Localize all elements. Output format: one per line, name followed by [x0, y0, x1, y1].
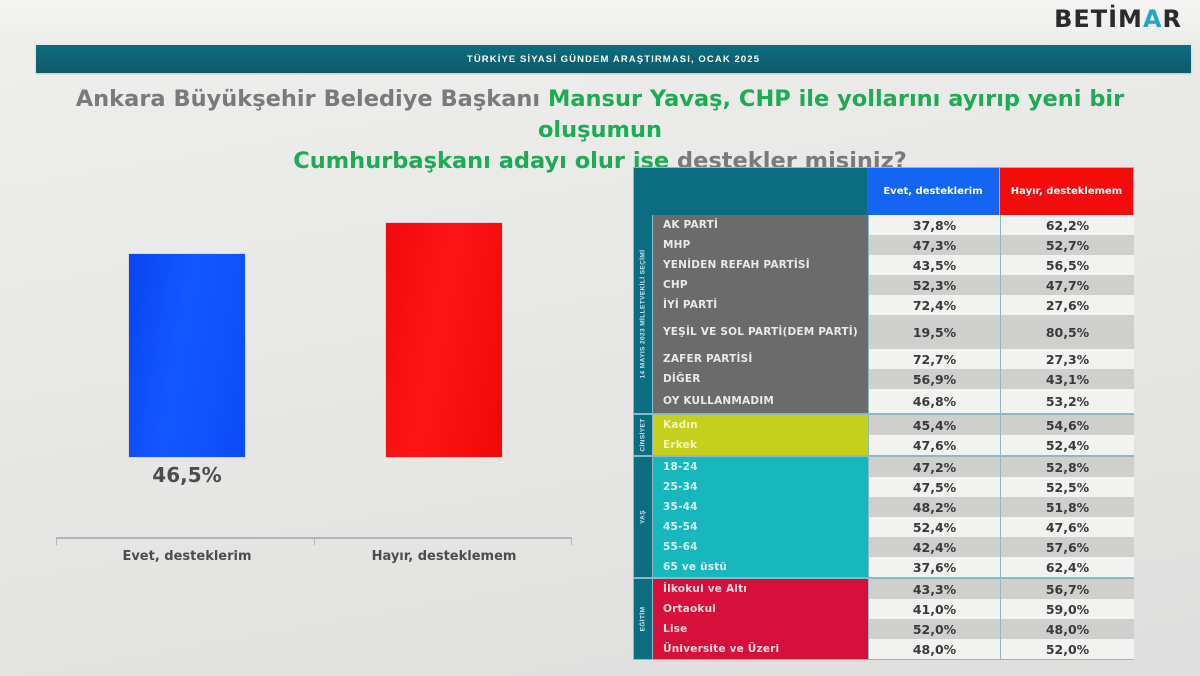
cell-no: 47,6% — [1001, 517, 1134, 537]
row-side-spacer — [634, 415, 653, 435]
cell-no: 27,6% — [1001, 295, 1134, 315]
table-row: AK PARTİ37,8%62,2% — [634, 215, 1133, 235]
row-label: Kadın — [653, 419, 698, 431]
row-label: YEŞİL VE SOL PARTİ(DEM PARTİ) — [653, 326, 858, 338]
row-label: 45-54 — [653, 521, 698, 533]
cell-yes: 52,3% — [868, 275, 1001, 295]
row-label-cell: YENİDEN REFAH PARTİSİ — [653, 255, 868, 275]
row-side-spacer — [634, 369, 653, 389]
table-row: ZAFER PARTİSİ72,7%27,3% — [634, 349, 1133, 369]
logo-accent: A — [1143, 5, 1163, 33]
row-label-cell: YEŞİL VE SOL PARTİ(DEM PARTİ) — [653, 315, 868, 349]
row-label-cell: AK PARTİ — [653, 215, 868, 235]
bar-chart: 46,5% 53,5% Evet, desteklerim Hayır, des… — [0, 160, 620, 600]
row-label: 18-24 — [653, 461, 698, 473]
row-label-cell: 18-24 — [653, 457, 868, 477]
row-label: Erkek — [653, 439, 697, 451]
row-label-cell: 25-34 — [653, 477, 868, 497]
cell-no: 52,5% — [1001, 477, 1134, 497]
row-label-cell: 65 ve üstü — [653, 557, 868, 577]
cell-yes: 37,8% — [868, 215, 1001, 235]
row-side-spacer — [634, 497, 653, 517]
table-row: Üniversite ve Üzeri48,0%52,0% — [634, 639, 1133, 659]
row-side-spacer — [634, 275, 653, 295]
table-row: Kadın45,4%54,6% — [634, 415, 1133, 435]
row-label: MHP — [653, 239, 691, 251]
table-row: İlkokul ve Altı43,3%56,7% — [634, 579, 1133, 599]
row-side-spacer — [634, 579, 653, 599]
row-label: Lise — [653, 623, 687, 635]
row-label-cell: DİĞER — [653, 369, 868, 389]
table-row: Ortaokul41,0%59,0% — [634, 599, 1133, 619]
cell-no: 62,2% — [1001, 215, 1134, 235]
cell-yes: 43,5% — [868, 255, 1001, 275]
row-label: 35-44 — [653, 501, 698, 513]
table-row: YENİDEN REFAH PARTİSİ43,5%56,5% — [634, 255, 1133, 275]
x-axis-label-no: Hayır, desteklemem — [344, 549, 544, 564]
cell-yes: 46,8% — [868, 389, 1001, 413]
row-side-spacer — [634, 517, 653, 537]
table-row: 55-6442,4%57,6% — [634, 537, 1133, 557]
row-label: 55-64 — [653, 541, 698, 553]
cell-yes: 72,7% — [868, 349, 1001, 369]
row-label-cell: Lise — [653, 619, 868, 639]
cell-no: 56,5% — [1001, 255, 1134, 275]
survey-banner-text: TÜRKİYE SİYASİ GÜNDEM ARAŞTIRMASI, OCAK … — [467, 54, 760, 65]
table-row: Lise52,0%48,0% — [634, 619, 1133, 639]
survey-banner: TÜRKİYE SİYASİ GÜNDEM ARAŞTIRMASI, OCAK … — [36, 45, 1191, 73]
row-label-cell: MHP — [653, 235, 868, 255]
cell-no: 80,5% — [1001, 315, 1134, 349]
table-header-blank — [634, 168, 867, 215]
row-label: Ortaokul — [653, 603, 716, 615]
row-label-cell: 35-44 — [653, 497, 868, 517]
cell-yes: 42,4% — [868, 537, 1001, 557]
row-label: İYİ PARTİ — [653, 299, 717, 311]
betimar-logo: BETİMAR — [1054, 5, 1182, 33]
row-label-cell: İlkokul ve Altı — [653, 579, 868, 599]
cell-no: 57,6% — [1001, 537, 1134, 557]
cell-no: 48,0% — [1001, 619, 1134, 639]
bar-no — [385, 222, 503, 458]
row-side-spacer — [634, 557, 653, 577]
row-side-spacer — [634, 435, 653, 455]
table-row: OY KULLANMADIM46,8%53,2% — [634, 389, 1133, 413]
row-label: CHP — [653, 279, 688, 291]
question-line1-highlight: Mansur Yavaş, CHP ile yollarını ayırıp y… — [538, 86, 1124, 143]
logo-main: BETİM — [1054, 5, 1143, 33]
row-side-spacer — [634, 477, 653, 497]
cell-yes: 47,5% — [868, 477, 1001, 497]
row-label-cell: OY KULLANMADIM — [653, 389, 868, 413]
table-row: 25-3447,5%52,5% — [634, 477, 1133, 497]
cell-no: 62,4% — [1001, 557, 1134, 577]
table-row: DİĞER56,9%43,1% — [634, 369, 1133, 389]
row-label: YENİDEN REFAH PARTİSİ — [653, 259, 810, 271]
cell-no: 43,1% — [1001, 369, 1134, 389]
cell-no: 52,7% — [1001, 235, 1134, 255]
row-side-spacer — [634, 255, 653, 275]
table-row: YEŞİL VE SOL PARTİ(DEM PARTİ)19,5%80,5% — [634, 315, 1133, 349]
table-row: 18-2447,2%52,8% — [634, 457, 1133, 477]
cell-yes: 52,4% — [868, 517, 1001, 537]
row-side-spacer — [634, 619, 653, 639]
cell-yes: 47,6% — [868, 435, 1001, 455]
row-side-spacer — [634, 599, 653, 619]
row-label-cell: Ortaokul — [653, 599, 868, 619]
row-label: 65 ve üstü — [653, 561, 727, 573]
cell-yes: 56,9% — [868, 369, 1001, 389]
cell-no: 47,7% — [1001, 275, 1134, 295]
bar-value-yes: 46,5% — [117, 463, 257, 487]
cell-yes: 19,5% — [868, 315, 1001, 349]
table-row: İYİ PARTİ72,4%27,6% — [634, 295, 1133, 315]
row-label: OY KULLANMADIM — [653, 395, 774, 407]
cell-no: 56,7% — [1001, 579, 1134, 599]
table-row: Erkek47,6%52,4% — [634, 435, 1133, 455]
x-axis-tick-middle — [314, 539, 315, 545]
cell-yes: 37,6% — [868, 557, 1001, 577]
crosstab-table: Evet, desteklerim Hayır, desteklemem 14 … — [633, 167, 1134, 660]
column-header-yes: Evet, desteklerim — [867, 168, 1000, 215]
logo-tail: R — [1163, 5, 1182, 33]
row-side-spacer — [634, 295, 653, 315]
table-section-age: YAŞ18-2447,2%52,8%25-3447,5%52,5%35-4448… — [634, 457, 1133, 577]
row-label-cell: İYİ PARTİ — [653, 295, 868, 315]
cell-no: 27,3% — [1001, 349, 1134, 369]
cell-yes: 48,2% — [868, 497, 1001, 517]
row-side-spacer — [634, 389, 653, 413]
bar-yes — [128, 253, 246, 458]
cell-yes: 41,0% — [868, 599, 1001, 619]
row-label: İlkokul ve Altı — [653, 583, 747, 595]
table-body: 14 MAYIS 2023 MİLLETVEKİLİ SEÇİMİAK PART… — [634, 215, 1133, 659]
row-label: Üniversite ve Üzeri — [653, 643, 779, 655]
cell-no: 52,8% — [1001, 457, 1134, 477]
table-section-edu: EĞİTİMİlkokul ve Altı43,3%56,7%Ortaokul4… — [634, 579, 1133, 659]
cell-no: 59,0% — [1001, 599, 1134, 619]
table-row: MHP47,3%52,7% — [634, 235, 1133, 255]
cell-yes: 48,0% — [868, 639, 1001, 659]
column-header-no: Hayır, desteklemem — [1000, 168, 1133, 215]
cell-yes: 47,2% — [868, 457, 1001, 477]
row-label-cell: CHP — [653, 275, 868, 295]
cell-yes: 47,3% — [868, 235, 1001, 255]
table-section-gender: CİNSİYETKadın45,4%54,6%Erkek47,6%52,4% — [634, 415, 1133, 455]
cell-yes: 72,4% — [868, 295, 1001, 315]
row-label-cell: Kadın — [653, 415, 868, 435]
question-line1-plain: Ankara Büyükşehir Belediye Başkanı — [76, 86, 548, 112]
row-label: 25-34 — [653, 481, 698, 493]
row-side-spacer — [634, 457, 653, 477]
row-side-spacer — [634, 537, 653, 557]
row-label-cell: Erkek — [653, 435, 868, 455]
cell-yes: 52,0% — [868, 619, 1001, 639]
row-label: DİĞER — [653, 373, 701, 385]
table-section-parti: 14 MAYIS 2023 MİLLETVEKİLİ SEÇİMİAK PART… — [634, 215, 1133, 413]
cell-yes: 45,4% — [868, 415, 1001, 435]
table-row: CHP52,3%47,7% — [634, 275, 1133, 295]
table-row: 35-4448,2%51,8% — [634, 497, 1133, 517]
top-bar: BETİMAR — [0, 0, 1200, 40]
cell-no: 51,8% — [1001, 497, 1134, 517]
row-label: ZAFER PARTİSİ — [653, 353, 752, 365]
table-header-row: Evet, desteklerim Hayır, desteklemem — [634, 168, 1133, 215]
row-side-spacer — [634, 235, 653, 255]
cell-no: 54,6% — [1001, 415, 1134, 435]
row-side-spacer — [634, 315, 653, 349]
row-label: AK PARTİ — [653, 219, 718, 231]
table-row: 45-5452,4%47,6% — [634, 517, 1133, 537]
cell-no: 52,0% — [1001, 639, 1134, 659]
cell-yes: 43,3% — [868, 579, 1001, 599]
table-row: 65 ve üstü37,6%62,4% — [634, 557, 1133, 577]
cell-no: 53,2% — [1001, 389, 1134, 413]
row-side-spacer — [634, 639, 653, 659]
cell-no: 52,4% — [1001, 435, 1134, 455]
x-axis-tick-left — [56, 539, 57, 545]
row-side-spacer — [634, 349, 653, 369]
row-label-cell: Üniversite ve Üzeri — [653, 639, 868, 659]
row-side-spacer — [634, 215, 653, 235]
row-label-cell: 55-64 — [653, 537, 868, 557]
row-label-cell: ZAFER PARTİSİ — [653, 349, 868, 369]
row-label-cell: 45-54 — [653, 517, 868, 537]
x-axis-tick-right — [571, 539, 572, 545]
bar-plot-area — [0, 218, 620, 458]
x-axis-label-yes: Evet, desteklerim — [87, 549, 287, 564]
